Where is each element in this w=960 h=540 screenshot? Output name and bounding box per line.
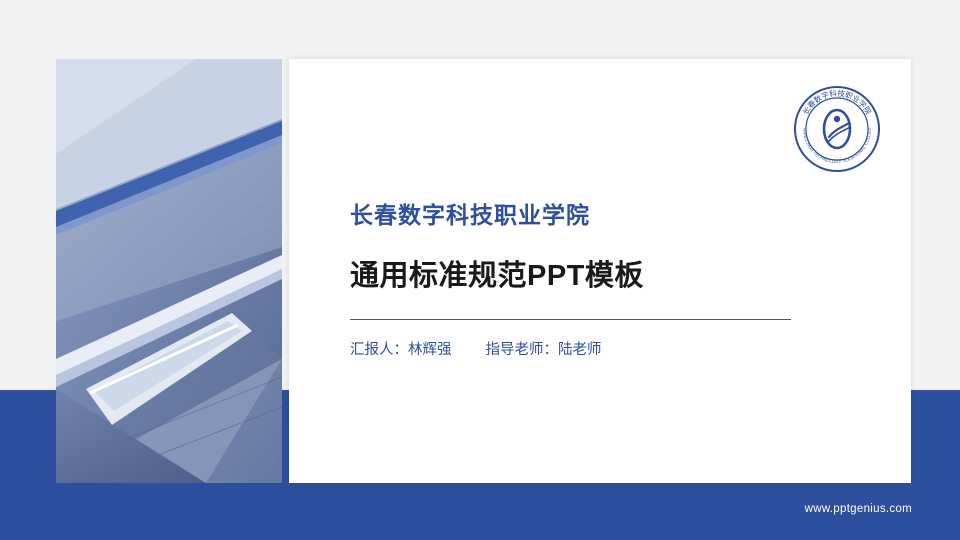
footer-website-url: www.pptgenius.com <box>805 503 912 515</box>
page-title-institution: 长春数字科技职业学院 <box>350 196 590 230</box>
presenter-info: 汇报人：林辉强指导老师：陆老师 <box>350 338 602 359</box>
presenter-label: 汇报人： <box>350 342 408 358</box>
title-divider <box>350 319 791 320</box>
university-crest-logo: 长春数字科技职业学院 CHANGCHUN TECHNOLOGY VOCATION… <box>793 85 881 173</box>
architecture-photo <box>56 59 282 483</box>
page-title-main: 通用标准规范PPT模板 <box>350 252 644 294</box>
presentation-slide: 长春数字科技职业学院 CHANGCHUN TECHNOLOGY VOCATION… <box>0 0 960 540</box>
advisor-name: 陆老师 <box>558 342 602 358</box>
presenter-name: 林辉强 <box>408 342 452 358</box>
advisor-label: 指导老师： <box>486 342 559 358</box>
